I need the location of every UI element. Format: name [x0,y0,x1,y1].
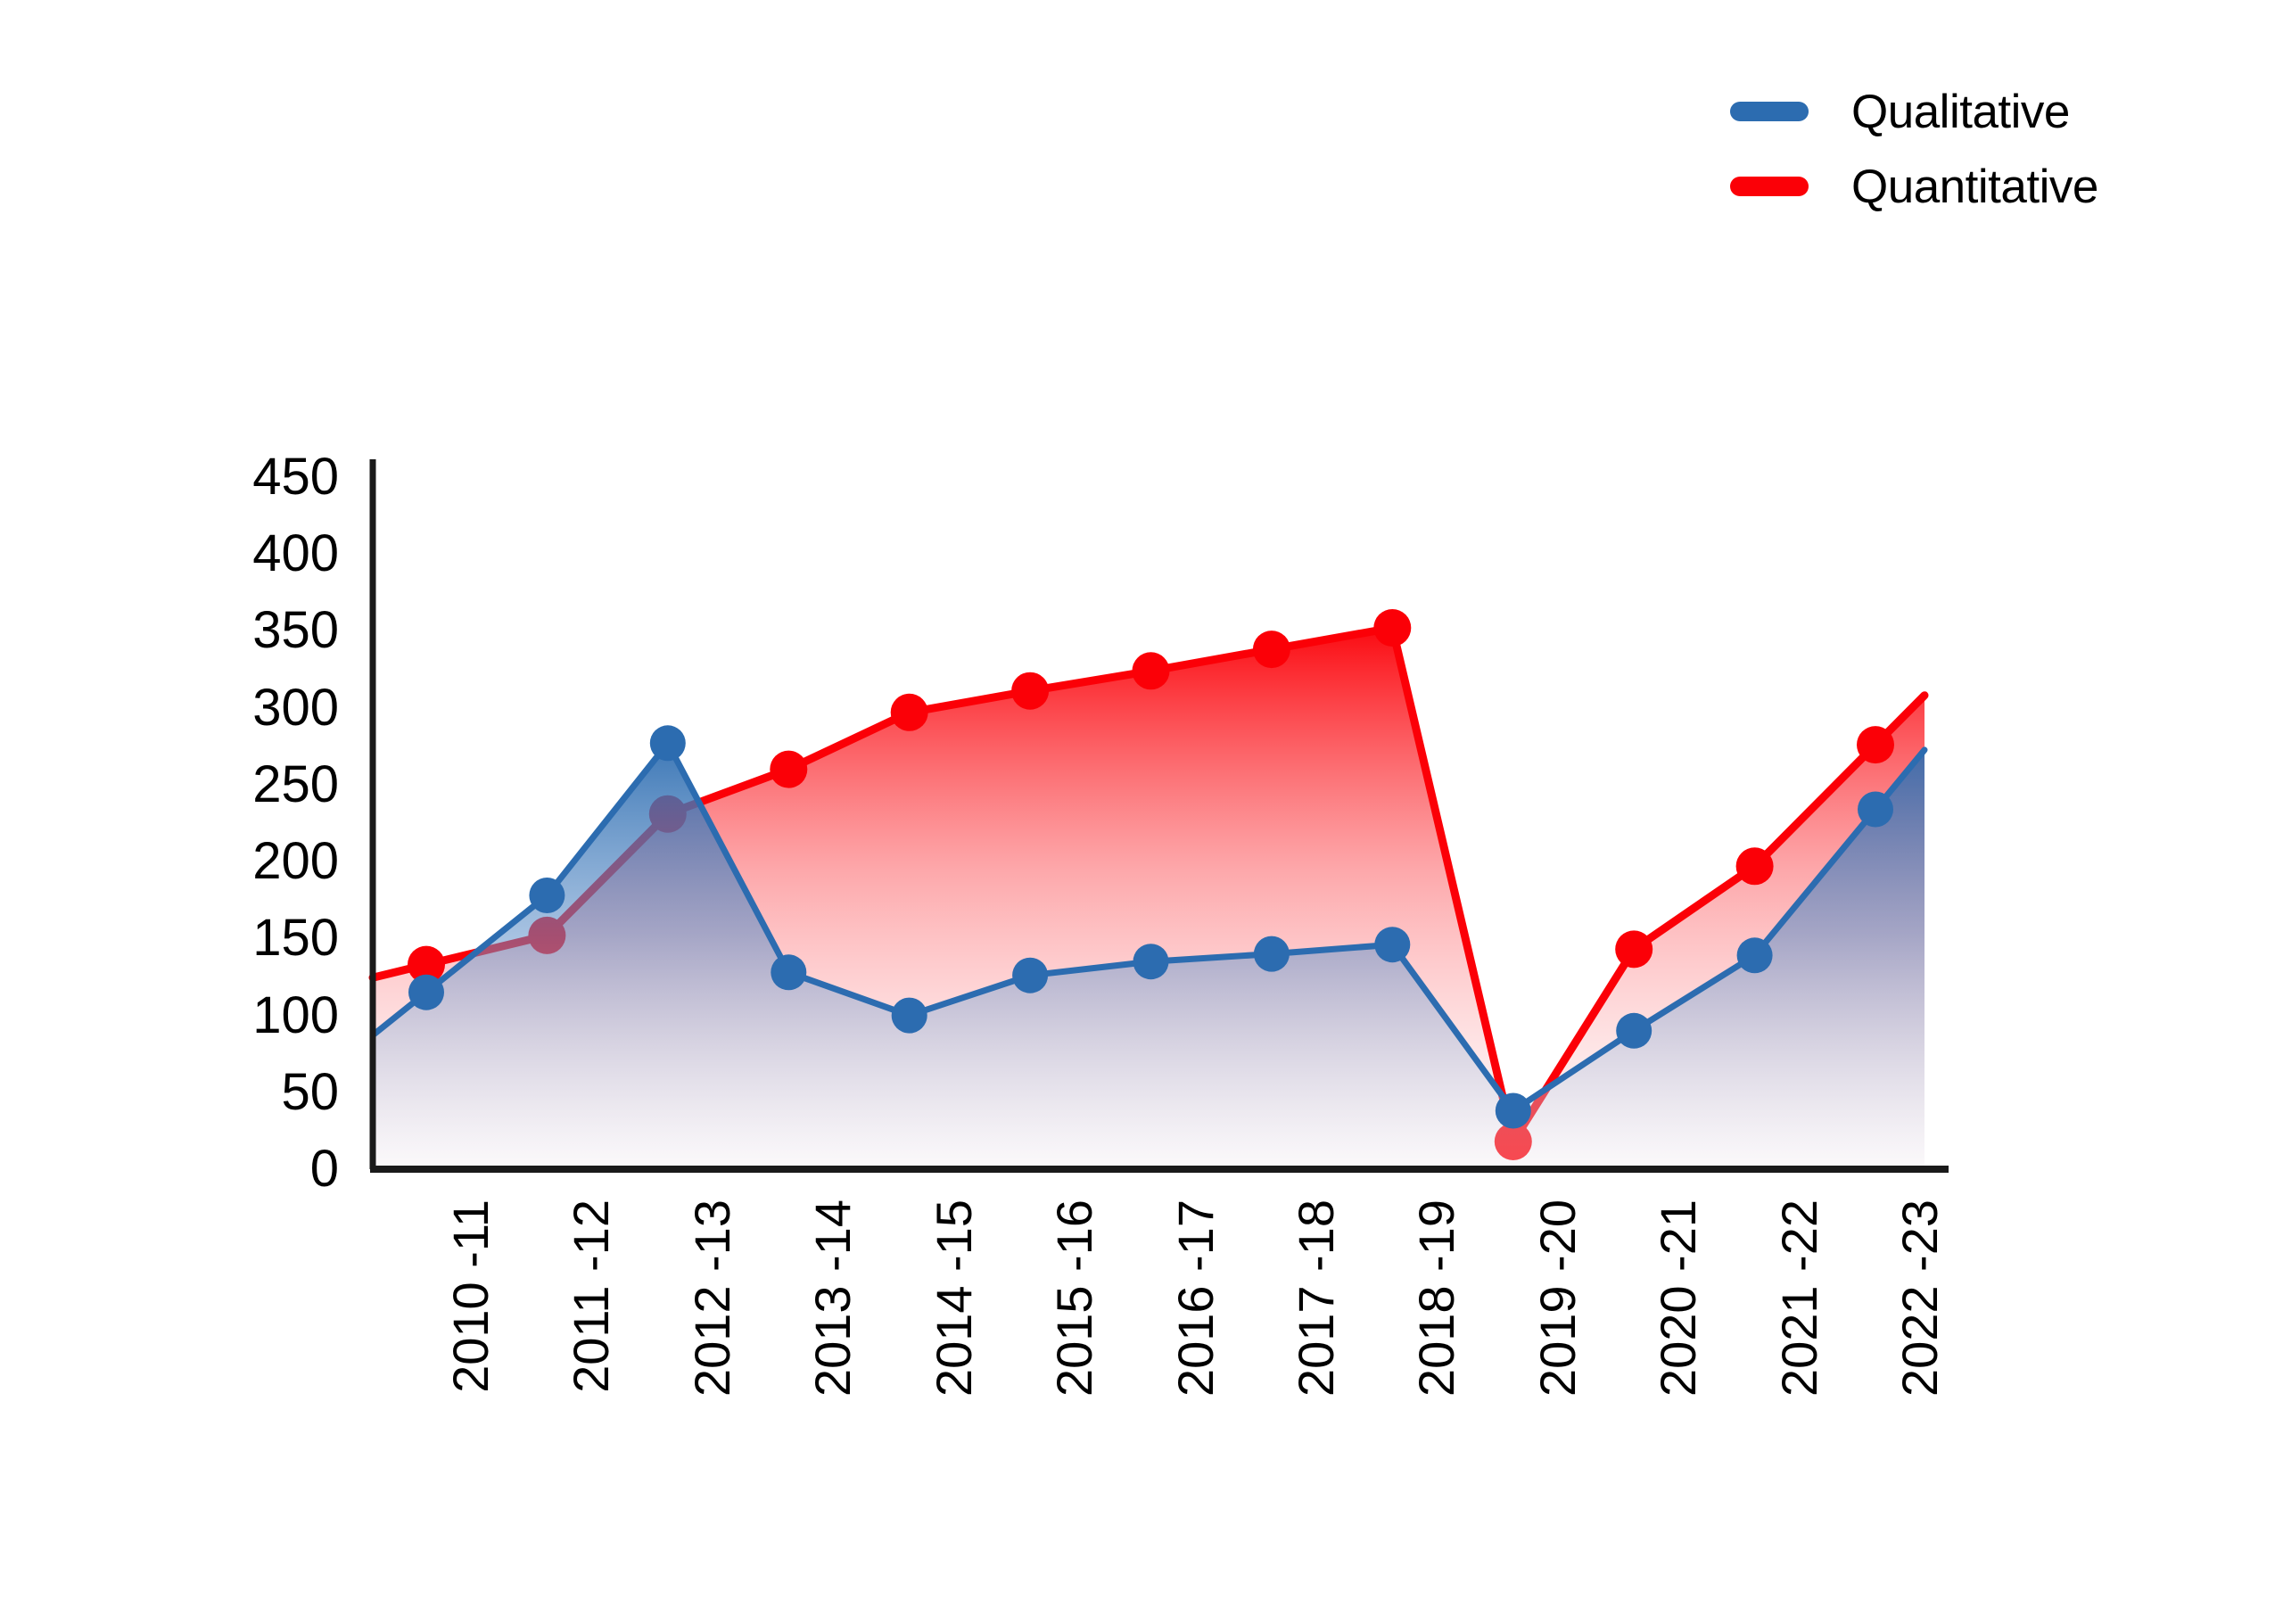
x-axis-tick-label: 2012 -13 [688,1199,738,1397]
x-axis-tick-label: 2021 -22 [1775,1199,1825,1397]
x-axis-tick-label: 2014 -15 [929,1199,979,1397]
x-axis-tick-label: 2013 -14 [808,1199,858,1397]
x-axis-tick-label: 2022 -23 [1895,1199,1945,1397]
x-axis-tick-label: 2015 -16 [1050,1199,1100,1397]
x-axis-ticks: 2010 -112011 -122012 -132013 -142014 -15… [0,0,2283,1624]
x-axis-tick-label: 2016 -17 [1171,1199,1221,1397]
x-axis-tick-label: 2010 -11 [446,1199,496,1393]
chart-page: Qualitative Quantitative [0,0,2283,1624]
x-axis-tick-label: 2011 -12 [566,1199,616,1393]
x-axis-tick-label: 2018 -19 [1412,1199,1462,1397]
x-axis-tick-label: 2020 -21 [1653,1199,1703,1397]
x-axis-tick-label: 2019 -20 [1533,1199,1583,1397]
x-axis-tick-label: 2017 -18 [1291,1199,1341,1397]
